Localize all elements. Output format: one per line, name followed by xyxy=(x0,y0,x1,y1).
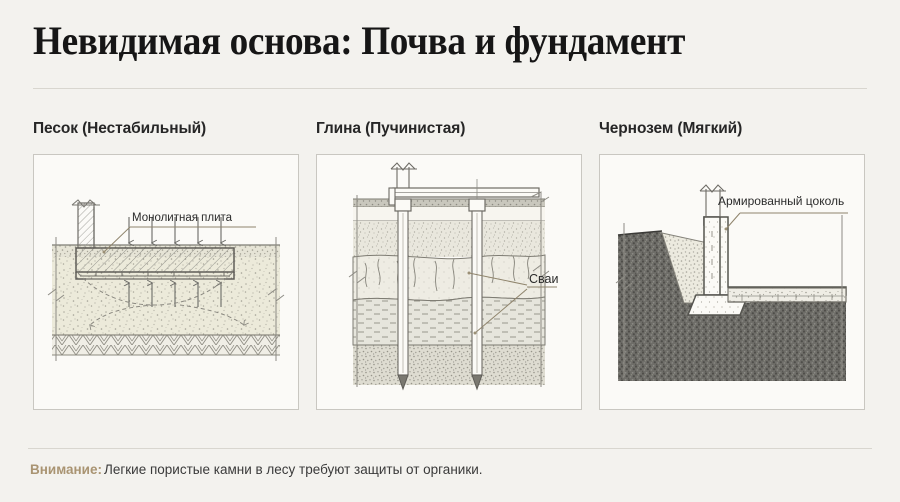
callout-label-plinth: Армированный цоколь xyxy=(718,194,844,208)
column-title-sand: Песок (Нестабильный) xyxy=(33,118,301,140)
callout-label-piles: Сваи xyxy=(529,272,558,286)
diagram-panel-clay[interactable]: Сваи xyxy=(316,154,582,410)
chernozem-plinth-diagram: Армированный цоколь xyxy=(600,155,864,409)
column-clay: Глина (Пучинистая) xyxy=(316,118,584,410)
title-divider xyxy=(33,88,867,89)
sand-slab-diagram: Монолитная плита xyxy=(34,155,298,409)
warning-text: Легкие пористые камни в лесу требуют защ… xyxy=(104,462,483,477)
page-title: Невидимая основа: Почва и фундамент xyxy=(33,18,814,64)
floor-slab xyxy=(728,288,846,302)
soil-strata xyxy=(353,199,545,385)
warning-label: Внимание: xyxy=(30,462,102,477)
clay-piles-diagram: Сваи xyxy=(317,155,581,409)
diagram-columns: Песок (Нестабильный) xyxy=(0,118,900,418)
column-title-chernozem: Чернозем (Мягкий) xyxy=(599,118,867,140)
footer-divider xyxy=(28,448,872,449)
callout-label-slab: Монолитная плита xyxy=(132,212,233,224)
diagram-panel-chernozem[interactable]: Армированный цоколь xyxy=(599,154,865,410)
slide-root: Невидимая основа: Почва и фундамент Песо… xyxy=(0,0,900,502)
footer-warning-note: Внимание:Легкие пористые камни в лесу тр… xyxy=(30,460,483,480)
diagram-panel-sand[interactable]: Монолитная плита xyxy=(33,154,299,410)
column-title-clay: Глина (Пучинистая) xyxy=(316,118,584,140)
column-chernozem: Чернозем (Мягкий) xyxy=(599,118,867,410)
column-sand: Песок (Нестабильный) xyxy=(33,118,301,410)
